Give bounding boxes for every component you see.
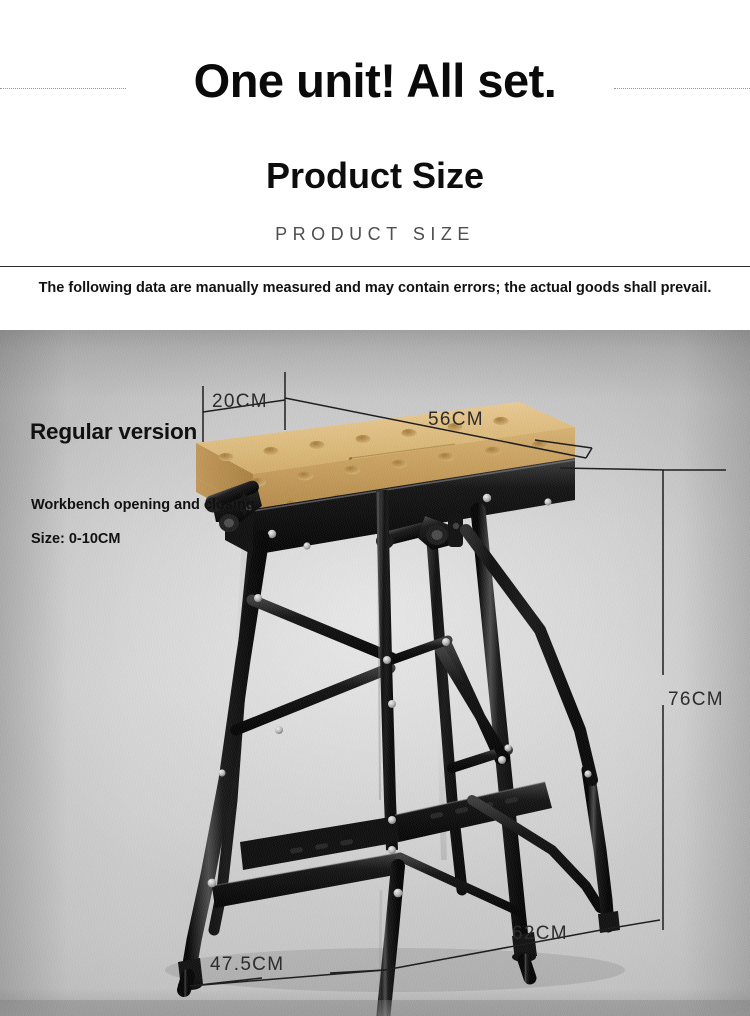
header-divider — [0, 266, 750, 267]
section-heading-english: PRODUCT SIZE — [0, 224, 750, 245]
opening-size-label-line1: Workbench opening and closing — [31, 497, 255, 513]
dimension-label-tabletop-length: 56CM — [428, 409, 484, 431]
dimension-label-tabletop-width-front: 20CM — [212, 391, 268, 413]
page-title: One unit! All set. — [0, 55, 750, 107]
product-size-infographic: One unit! All set. Product Size PRODUCT … — [0, 0, 750, 1016]
variant-label: Regular version — [30, 419, 197, 445]
dimension-label-bench-height: 76CM — [668, 689, 724, 711]
opening-size-label-line2: Size: 0-10CM — [31, 531, 120, 547]
header-section: One unit! All set. Product Size PRODUCT … — [0, 0, 750, 330]
measurement-disclaimer: The following data are manually measured… — [0, 280, 750, 296]
dimension-label-footprint-width: 62CM — [512, 923, 568, 945]
section-heading: Product Size — [0, 156, 750, 196]
dimension-label-footprint-depth: 47.5CM — [210, 954, 284, 976]
